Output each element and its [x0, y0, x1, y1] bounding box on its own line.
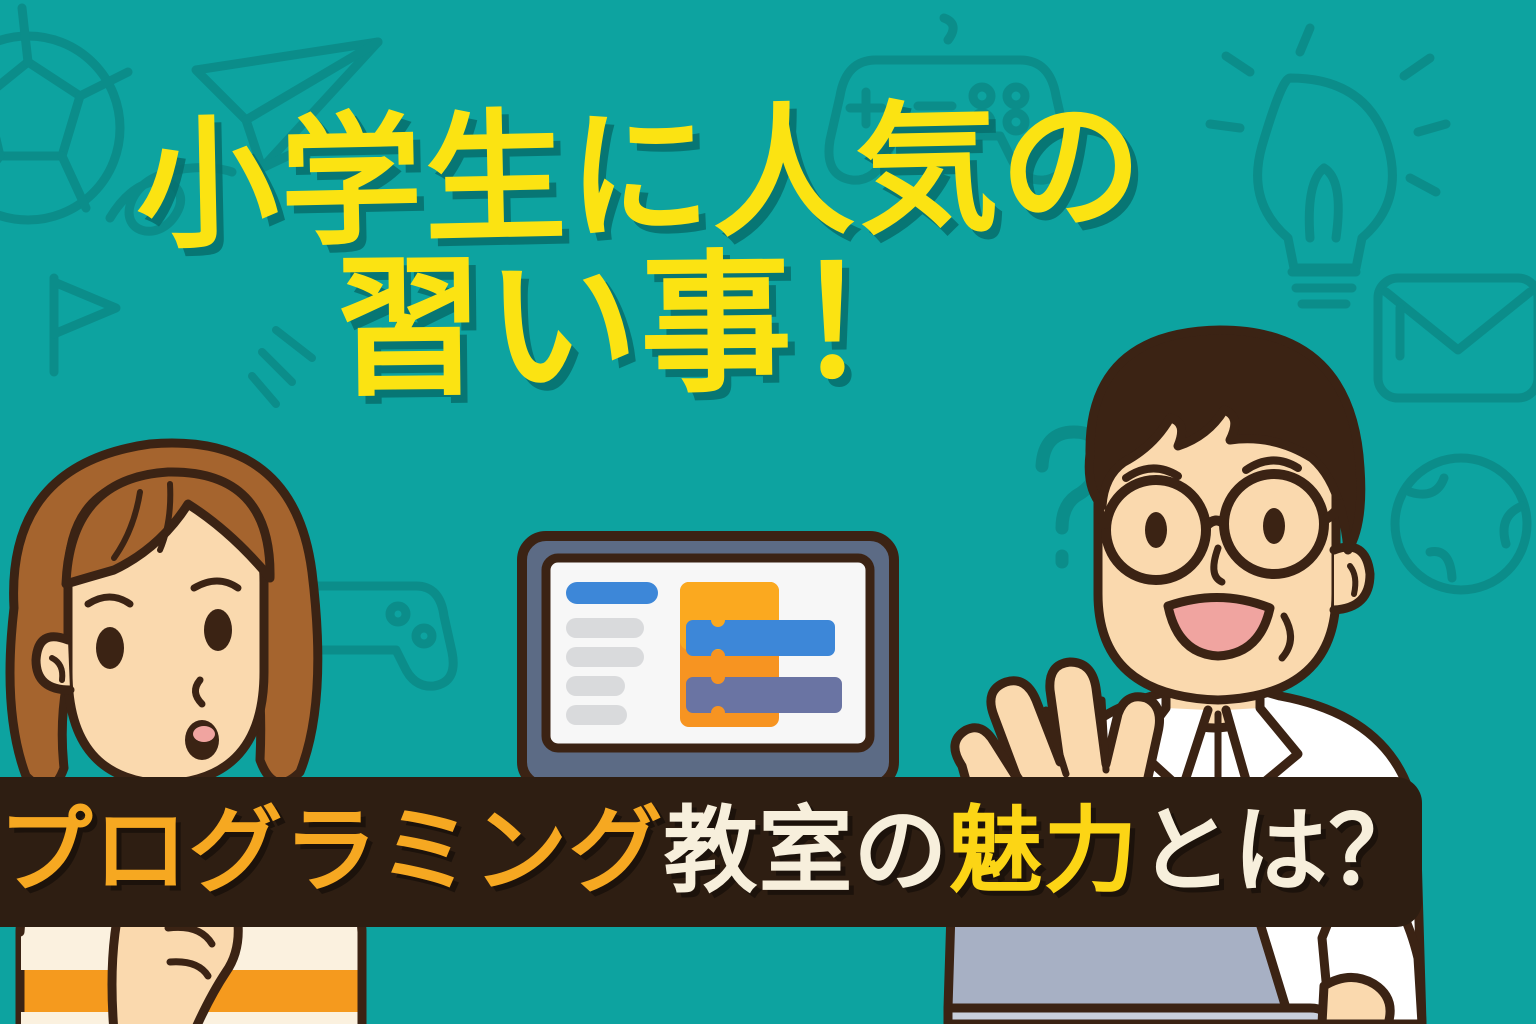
man-eye-right — [1263, 508, 1285, 544]
woman-eye-left — [96, 627, 124, 669]
screen-list-row — [566, 647, 644, 667]
screen-list-row — [566, 618, 644, 638]
banner-segment-classroom: 教室の — [663, 797, 948, 906]
title-line-1: 小学生に人気の — [0, 95, 1281, 260]
laptop-illustration — [508, 530, 908, 798]
screen-header-bar — [566, 582, 658, 604]
screen-list-row — [566, 676, 625, 696]
woman-ear — [36, 637, 70, 690]
woman-eye-right — [204, 609, 232, 651]
held-laptop-base — [948, 1008, 1328, 1024]
puzzle-block-blue — [686, 620, 835, 656]
banner-segment-programming: プログラミング — [0, 797, 663, 906]
man-ear — [1334, 547, 1370, 610]
subtitle-text: プログラミング教室の魅力とは？ — [0, 805, 1424, 899]
subtitle-banner: プログラミング教室の魅力とは？ — [0, 777, 1422, 927]
poster-canvas: 小学生に人気の 習い事！ — [0, 0, 1536, 1024]
man-eye-left — [1145, 512, 1167, 548]
banner-segment-question: とは？ — [1139, 797, 1424, 906]
screen-list-row — [566, 705, 627, 725]
squiggle-doodle — [110, 168, 232, 232]
soccer-ball-doodle — [0, 8, 128, 220]
lightbulb-doodle — [1210, 28, 1446, 304]
paper-plane-doodle — [196, 42, 378, 168]
game-controller-doodle — [829, 18, 1067, 180]
banner-segment-appeal: 魅力 — [949, 797, 1139, 906]
man-hand-right — [1322, 977, 1390, 1024]
pennant-flag-doodle — [54, 278, 116, 372]
puzzle-block-purple — [686, 677, 842, 713]
woman-tongue — [193, 726, 215, 742]
